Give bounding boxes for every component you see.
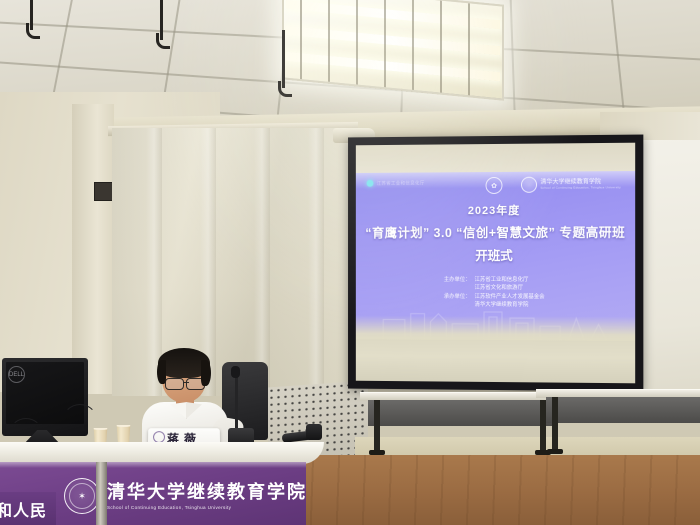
slide-left-logo-label: 江苏省工业和信息化厅: [377, 180, 425, 186]
slide-title-block: 2023年度 “育鹰计划” 3.0 “信创+智慧文旅” 专题高研班 开班式: [356, 201, 635, 264]
left-banner-text: 和人民: [0, 497, 47, 521]
logo-dot-icon: [367, 180, 374, 187]
projection-screen: 江苏省工业和信息化厅 ✿ 清华大学继续教育学院 School of Contin…: [348, 135, 643, 392]
slide-left-logo: 江苏省工业和信息化厅: [367, 179, 425, 186]
microphone-head-icon: [231, 366, 240, 378]
wall-mounted-device[interactable]: [94, 182, 113, 201]
fluorescent-ceiling-light: [282, 0, 504, 101]
organizer-host-2: 江苏省文化和旅游厅: [475, 284, 545, 293]
tsinghua-logo-en: School of Continuing Education, Tsinghua…: [540, 186, 621, 190]
slide-subtitle: 开班式: [356, 245, 635, 264]
hair-side-right: [201, 360, 211, 386]
tsinghua-logo: 清华大学继续教育学院 School of Continuing Educatio…: [521, 176, 621, 193]
tsinghua-seal-icon: [521, 177, 537, 193]
hair-side-left: [157, 360, 166, 384]
organizer-coorg-1: 江苏软件产业人才发展基金会: [475, 293, 545, 302]
slide-main-title: “育鹰计划” 3.0 “信创+智慧文旅” 专题高研班: [356, 222, 635, 242]
screen-blank-top: [356, 143, 635, 173]
speaker-desk-top: [0, 442, 324, 464]
left-banner-strip: 和人民: [0, 492, 56, 525]
ceiling-cable-hook: [282, 30, 285, 88]
ceiling-cable-hook: [160, 0, 163, 40]
tsinghua-logo-text: 清华大学继续教育学院 School of Continuing Educatio…: [540, 179, 621, 189]
gooseneck-microphone: [235, 372, 238, 430]
microphone-holder[interactable]: [306, 424, 322, 440]
wall-column: [72, 104, 114, 394]
training-tables: [360, 392, 700, 462]
screen-blank-bottom: [356, 339, 635, 383]
organizer-label-coorg: 承办单位：: [444, 293, 475, 301]
eyeglass-bridge: [183, 382, 189, 383]
ceiling-cable-hook: [30, 0, 33, 30]
podium-banner-en: School of Continuing Education, Tsinghua…: [107, 505, 306, 510]
projector-bottom-wash: [356, 315, 635, 340]
photo-scene: 江苏省工业和信息化厅 ✿ 清华大学继续教育学院 School of Contin…: [0, 0, 700, 525]
slide-year: 2023年度: [356, 201, 635, 218]
tsinghua-seal-icon: ✶: [64, 478, 100, 514]
cable: [62, 404, 98, 440]
organizer-host-1: 江苏省工业和信息化厅: [475, 276, 545, 284]
eyeglass-lens-left: [165, 378, 184, 390]
circular-emblem-icon: ✿: [486, 177, 503, 194]
podium-banner-text: 清华大学继续教育学院 School of Continuing Educatio…: [107, 483, 306, 510]
podium-banner-cn: 清华大学继续教育学院: [107, 482, 306, 502]
projection-surface: 江苏省工业和信息化厅 ✿ 清华大学继续教育学院 School of Contin…: [356, 143, 635, 384]
podium-support-pole: [96, 462, 107, 525]
presentation-slide: 江苏省工业和信息化厅 ✿ 清华大学继续教育学院 School of Contin…: [356, 171, 635, 341]
organizer-label-host: 主办单位：: [444, 276, 475, 284]
dell-logo-icon: DELL: [8, 366, 25, 383]
